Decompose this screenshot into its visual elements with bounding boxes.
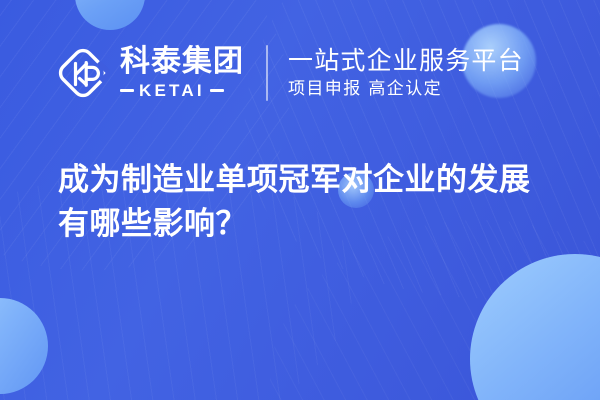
background-line-texture-bottom-right [270,220,600,400]
brand-name-latin: KETAI [139,81,205,101]
ketai-diamond-kt-logo-icon [56,46,110,100]
banner-header: 科泰集团 KETAI 一站式企业服务平台 项目申报 高企认定 [56,40,524,106]
brand-dash-left-icon [120,89,134,92]
tagline-primary: 一站式企业服务平台 [288,47,524,75]
decorative-circle-top [75,0,145,30]
tagline-secondary: 项目申报 高企认定 [288,79,524,99]
decorative-circle-bottom-left [0,298,48,394]
brand-dash-right-icon [210,89,224,92]
tagline-block: 一站式企业服务平台 项目申报 高企认定 [288,47,524,100]
header-vertical-divider [266,45,268,101]
brand-name-block: 科泰集团 KETAI [120,45,244,101]
brand-name-chinese: 科泰集团 [120,47,244,78]
promo-banner: 科泰集团 KETAI 一站式企业服务平台 项目申报 高企认定 成为制造业单项冠军… [0,0,600,400]
banner-headline: 成为制造业单项冠军对企业的发展有哪些影响？ [58,158,558,246]
decorative-circle-bottom-right [470,254,600,400]
brand-name-latin-row: KETAI [120,81,244,101]
